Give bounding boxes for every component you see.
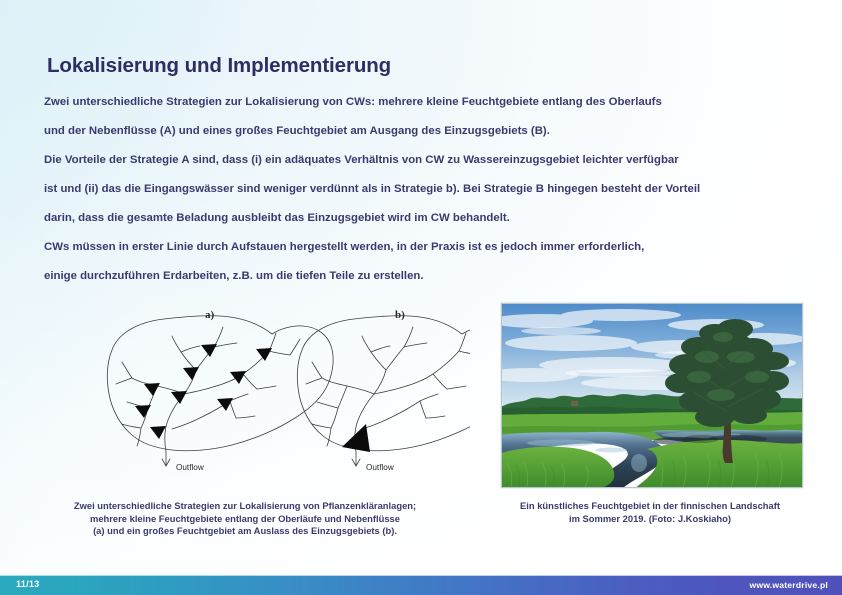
outflow-label-a: Outflow — [176, 463, 204, 472]
photo-caption: Ein künstliches Feuchtgebiet in der finn… — [480, 500, 820, 525]
paragraph-line: Zwei unterschiedliche Strategien zur Lok… — [44, 88, 814, 117]
panel-b-label: b) — [395, 309, 405, 321]
page-title: Lokalisierung und Implementierung — [47, 54, 391, 78]
body-copy: Zwei unterschiedliche Strategien zur Lok… — [44, 88, 814, 291]
wetland-photo — [501, 303, 803, 488]
panel-a-label: a) — [205, 309, 215, 321]
caption-line: mehrere kleine Feuchtgebiete entlang der… — [20, 513, 470, 526]
paragraph-3: CWs müssen in erster Linie durch Aufstau… — [44, 233, 814, 291]
caption-line: Zwei unterschiedliche Strategien zur Lok… — [20, 500, 470, 513]
paragraph-line: CWs müssen in erster Linie durch Aufstau… — [44, 233, 814, 262]
slide: Lokalisierung und Implementierung Zwei u… — [0, 0, 842, 595]
paragraph-1: Zwei unterschiedliche Strategien zur Lok… — [44, 88, 814, 146]
paragraph-line: Die Vorteile der Strategie A sind, dass … — [44, 146, 814, 175]
page-number: 11/13 — [16, 579, 39, 589]
paragraph-line: darin, dass die gesamte Beladung ausblei… — [44, 204, 814, 233]
caption-line: (a) und ein großes Feuchtgebiet am Ausla… — [20, 525, 470, 538]
paragraph-2: Die Vorteile der Strategie A sind, dass … — [44, 146, 814, 233]
caption-line: Ein künstliches Feuchtgebiet in der finn… — [480, 500, 820, 513]
outflow-label-b: Outflow — [366, 463, 394, 472]
diagram-caption: Zwei unterschiedliche Strategien zur Lok… — [20, 500, 470, 538]
caption-line: im Sommer 2019. (Foto: J.Koskiaho) — [480, 513, 820, 526]
footer-url[interactable]: www.waterdrive.pl — [749, 580, 828, 590]
paragraph-line: einige durchzuführen Erdarbeiten, z.B. u… — [44, 262, 814, 291]
footer-bar: 11/13 www.waterdrive.pl — [0, 576, 842, 595]
wetland-marker-group-a — [135, 344, 272, 439]
paragraph-line: ist und (ii) das die Eingangswässer sind… — [44, 175, 814, 204]
paragraph-line: und der Nebenflüsse (A) und eines großes… — [44, 117, 814, 146]
watershed-diagram-figure: a) b) Outflow Outflow — [40, 300, 470, 475]
